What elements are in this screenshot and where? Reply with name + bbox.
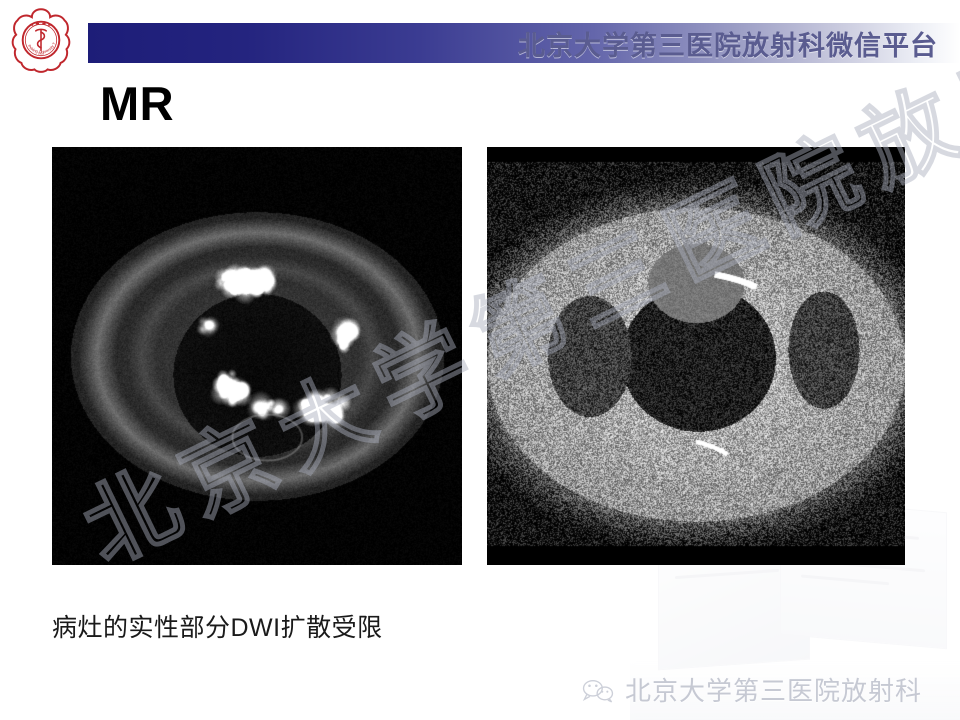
svg-text:1958: 1958	[38, 51, 45, 55]
header-title: 北京大学第三医院放射科微信平台	[518, 24, 938, 63]
image-caption: 病灶的实性部分DWI扩散受限	[52, 608, 383, 644]
footer-text: 北京大学第三医院放射科	[625, 671, 922, 708]
presentation-slide: 北京大学第三医院放射科微信平台 P	[0, 0, 960, 720]
wechat-icon	[581, 677, 615, 703]
hospital-logo: Peking University Third Hospital 1958	[8, 6, 74, 74]
dwi-axial-image	[52, 147, 462, 565]
footer: 北京大学第三医院放射科	[581, 671, 922, 708]
page-title: MR	[100, 80, 174, 127]
adc-map-image	[487, 147, 905, 565]
